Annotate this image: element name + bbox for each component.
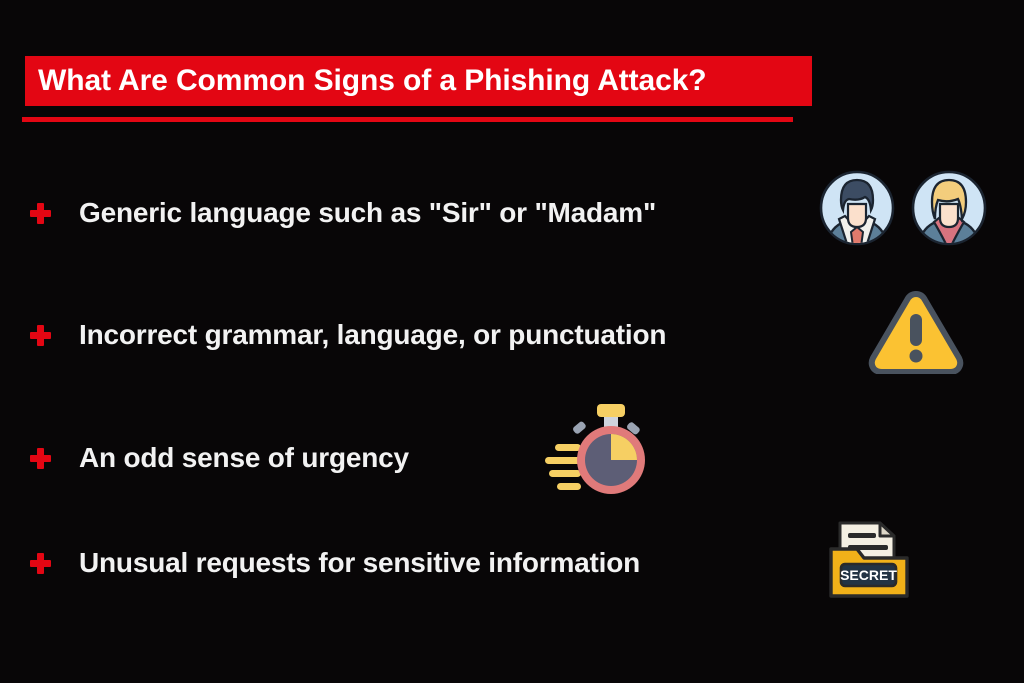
speed-lines [545, 444, 581, 490]
female-avatar-icon [913, 172, 985, 250]
warning-triangle-icon [866, 288, 966, 374]
bullet-label: An odd sense of urgency [79, 443, 409, 474]
page-title: What Are Common Signs of a Phishing Atta… [38, 66, 707, 96]
plus-icon [30, 448, 51, 469]
title-underline-rule [22, 117, 793, 122]
bullet-label: Generic language such as "Sir" or "Madam… [79, 198, 656, 229]
bullet-row: Generic language such as "Sir" or "Madam… [30, 185, 656, 241]
plus-icon [30, 203, 51, 224]
slide-canvas: What Are Common Signs of a Phishing Atta… [0, 0, 1024, 683]
secret-label: SECRET [840, 567, 897, 583]
secret-folder-icon: SECRET [826, 515, 912, 601]
stopwatch-icon [533, 402, 655, 498]
bullet-row: Unusual requests for sensitive informati… [30, 535, 640, 591]
plus-icon [30, 553, 51, 574]
two-people-avatars-icon [818, 168, 988, 250]
bullet-row: Incorrect grammar, language, or punctuat… [30, 307, 666, 363]
plus-icon [30, 325, 51, 346]
bullet-label: Incorrect grammar, language, or punctuat… [79, 320, 666, 351]
male-avatar-icon [821, 172, 893, 250]
bullet-label: Unusual requests for sensitive informati… [79, 548, 640, 579]
title-banner: What Are Common Signs of a Phishing Atta… [25, 56, 812, 106]
bullet-row: An odd sense of urgency [30, 430, 409, 486]
